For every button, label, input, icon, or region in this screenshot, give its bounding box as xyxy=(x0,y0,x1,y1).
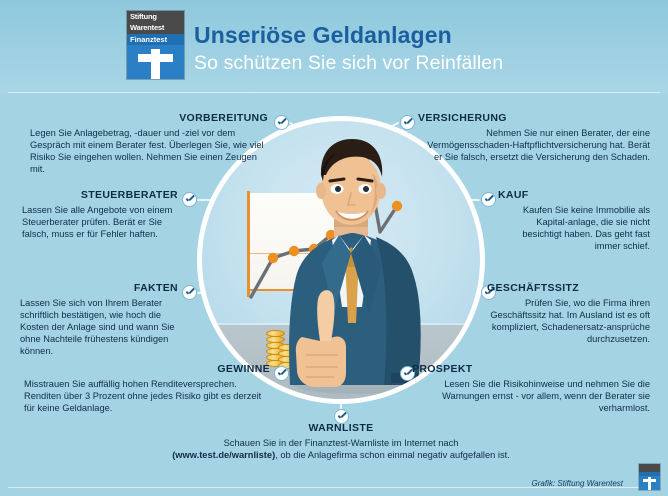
tip-heading-kauf: KAUF xyxy=(498,189,650,201)
tip-block-geschaeftssitz: GESCHÄFTSSITZ Prüfen Sie, wo die Firma i… xyxy=(487,282,650,345)
tip-heading-versicherung: VERSICHERUNG xyxy=(418,112,650,124)
check-icon-fakten xyxy=(182,285,197,300)
warnliste-url-link[interactable]: (www.test.de/warnliste) xyxy=(172,450,275,460)
page-title: Unseriöse Geldanlagen xyxy=(194,22,452,49)
check-icon-versicherung xyxy=(400,115,415,130)
tip-block-kauf: KAUF Kaufen Sie keine Immobilie als Kapi… xyxy=(498,189,650,252)
tip-body-fakten: Lassen Sie sich von Ihrem Berater schrif… xyxy=(20,297,178,357)
tip-body-gewinne: Misstrauen Sie auffällig hohen Renditeve… xyxy=(24,378,270,414)
tip-heading-fakten: FAKTEN xyxy=(20,282,178,294)
check-icon-vorbereitung xyxy=(274,115,289,130)
tip-block-prospekt: PROSPEKT Lesen Sie die Risikohinweise un… xyxy=(412,363,650,414)
tip-heading-warnliste: WARNLISTE xyxy=(104,422,578,434)
tip-body-versicherung: Nehmen Sie nur einen Berater, der eine V… xyxy=(418,127,650,163)
logo-cross-icon xyxy=(127,45,184,79)
header-divider xyxy=(8,92,660,93)
tip-block-versicherung: VERSICHERUNG Nehmen Sie nur einen Berate… xyxy=(418,112,650,163)
logo-line-stiftung: Stiftung xyxy=(130,12,181,23)
header-banner: Stiftung Warentest Finanztest Unseriöse … xyxy=(0,0,668,94)
footer-logo xyxy=(639,464,660,490)
advisor-figure xyxy=(276,127,426,404)
check-icon-steuerberater xyxy=(182,192,197,207)
check-icon-gewinne xyxy=(274,366,289,381)
tip-heading-geschaeftssitz: GESCHÄFTSSITZ xyxy=(487,282,650,294)
stiftung-warentest-logo: Stiftung Warentest Finanztest xyxy=(127,11,184,79)
tip-heading-gewinne: GEWINNE xyxy=(24,363,270,375)
tip-body-kauf: Kaufen Sie keine Immobilie als Kapital-a… xyxy=(498,204,650,252)
tip-body-warnliste-line1: Schauen Sie in der Finanztest-Warnliste … xyxy=(104,437,578,449)
check-icon-kauf xyxy=(481,192,496,207)
tip-body-prospekt: Lesen Sie die Risikohinweise und nehmen … xyxy=(412,378,650,414)
tip-block-warnliste: WARNLISTE Schauen Sie in der Finanztest-… xyxy=(104,422,578,461)
page-subtitle: So schützen Sie sich vor Reinfällen xyxy=(194,52,503,75)
logo-top-band: Stiftung Warentest xyxy=(127,11,184,34)
tip-body-warnliste-line2: (www.test.de/warnliste), ob die Anlagefi… xyxy=(104,449,578,461)
tip-block-vorbereitung: VORBEREITUNG Legen Sie Anlagebetrag, -da… xyxy=(30,112,268,175)
tip-block-gewinne: GEWINNE Misstrauen Sie auffällig hohen R… xyxy=(24,363,270,414)
tip-body-warnliste-tail: , ob die Anlagefirma schon einmal negati… xyxy=(275,450,510,460)
logo-line-finanztest: Finanztest xyxy=(127,34,184,45)
tip-body-steuerberater: Lassen Sie alle Angebote von einem Steue… xyxy=(22,204,178,240)
tip-block-steuerberater: STEUERBERATER Lassen Sie alle Angebote v… xyxy=(22,189,178,240)
tip-body-vorbereitung: Legen Sie Anlagebetrag, -dauer und -ziel… xyxy=(30,127,268,175)
tip-heading-prospekt: PROSPEKT xyxy=(412,363,650,375)
graphic-credit: Grafik: Stiftung Warentest xyxy=(532,479,623,488)
tip-heading-steuerberater: STEUERBERATER xyxy=(22,189,178,201)
tip-block-fakten: FAKTEN Lassen Sie sich von Ihrem Berater… xyxy=(20,282,178,357)
tip-heading-vorbereitung: VORBEREITUNG xyxy=(30,112,268,124)
footer-logo-cross-icon xyxy=(639,476,660,490)
tip-body-geschaeftssitz: Prüfen Sie, wo die Firma ihren Geschäfts… xyxy=(487,297,650,345)
footer-logo-top xyxy=(639,464,660,472)
logo-line-warentest: Warentest xyxy=(130,23,181,34)
infographic-root: Stiftung Warentest Finanztest Unseriöse … xyxy=(0,0,668,496)
